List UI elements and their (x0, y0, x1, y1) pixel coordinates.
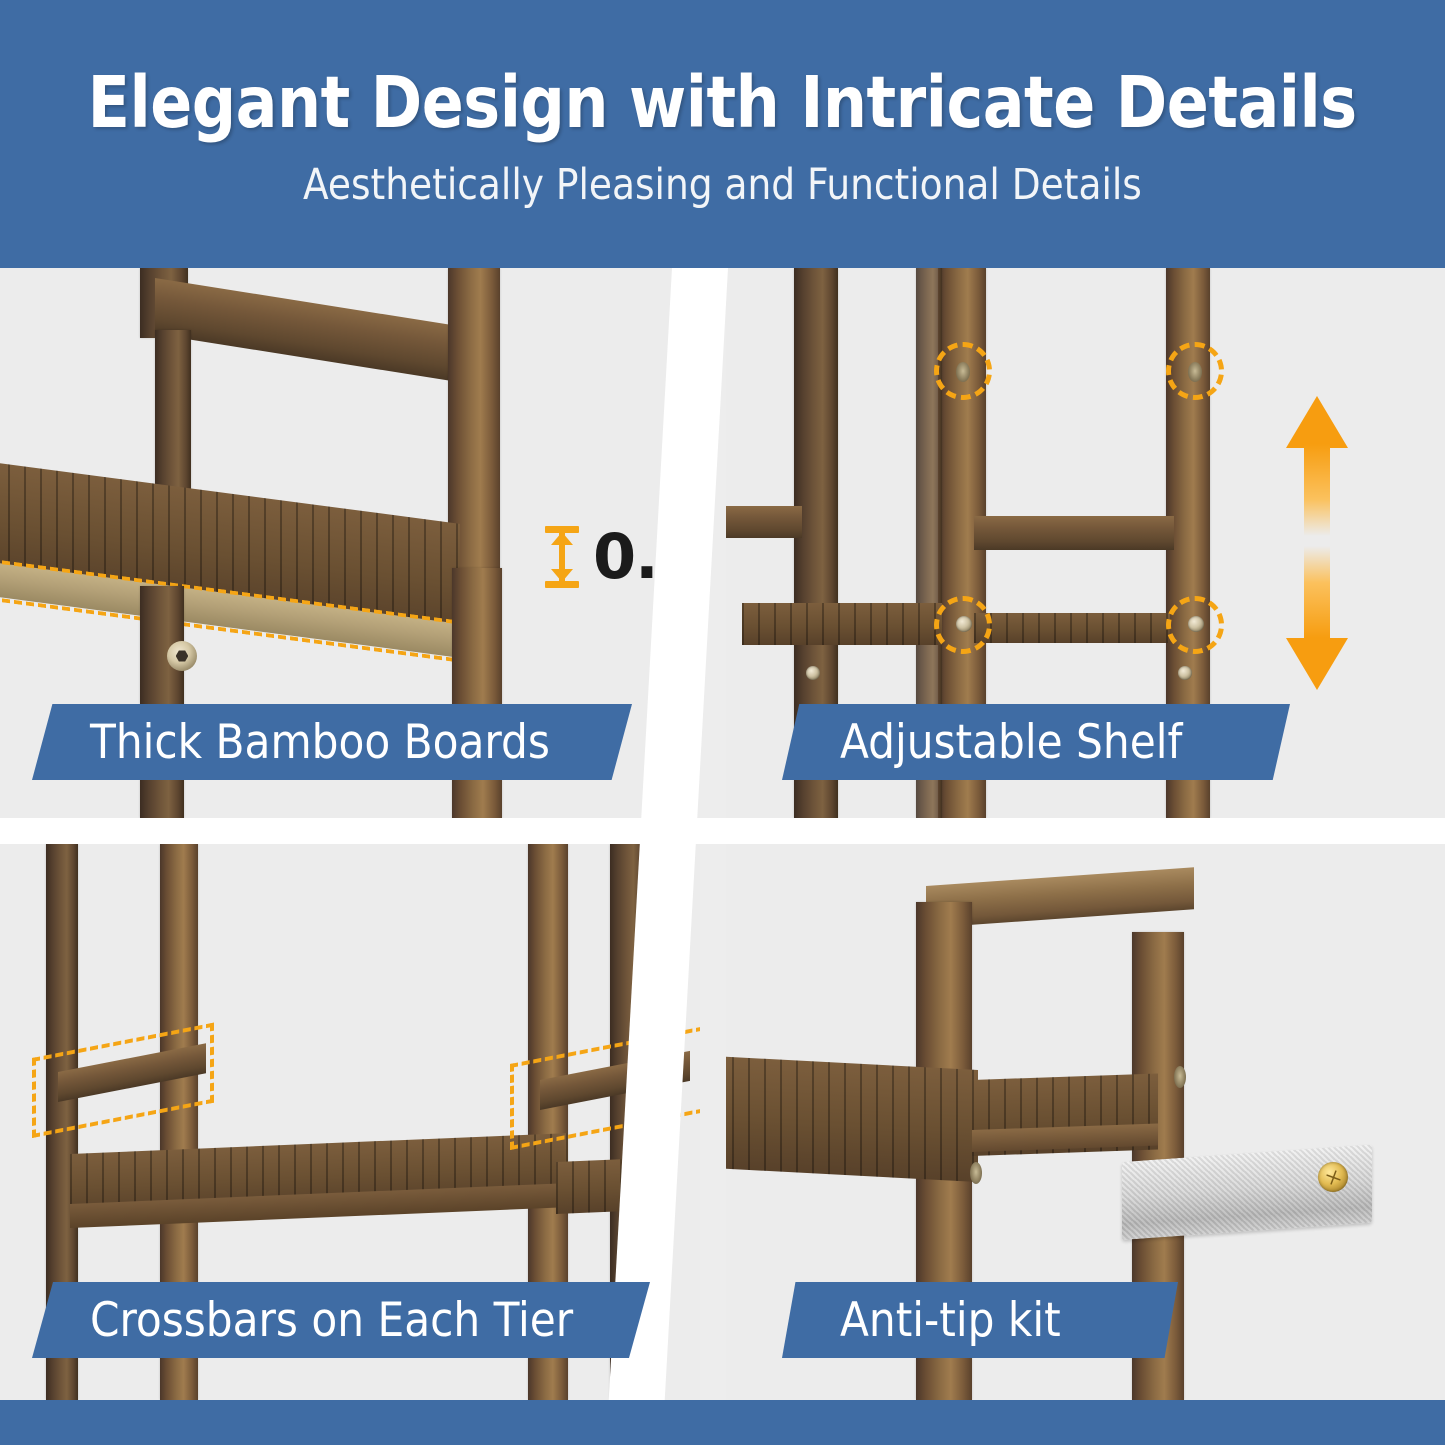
label-text: Thick Bamboo Boards (90, 719, 550, 766)
panel-crossbars-on-each-tier: Crossbars on Each Tier (0, 844, 700, 1400)
post-hole-1 (970, 1162, 982, 1184)
mount-screw-4 (1188, 616, 1204, 632)
lower-left-post (140, 586, 184, 818)
arrow-down-icon (1286, 546, 1348, 692)
hex-screw-icon (167, 641, 197, 671)
mount-screw-3 (956, 616, 972, 632)
header-banner: Elegant Design with Intricate Details Ae… (0, 0, 1445, 268)
shelf-right-section (974, 613, 1170, 643)
panel-adjustable-shelf: Adjustable Shelf (726, 268, 1445, 818)
label-text: Crossbars on Each Tier (90, 1297, 573, 1344)
label-anti-tip-kit: Anti-tip kit (782, 1282, 1178, 1358)
panel-anti-tip-kit: Anti-tip kit (726, 844, 1445, 1400)
mount-hole-1 (956, 362, 970, 382)
upper-cross-beam (155, 278, 485, 386)
post-screw-3 (1178, 666, 1192, 680)
left-stub-beam (726, 506, 802, 538)
page-subtitle: Aesthetically Pleasing and Functional De… (303, 164, 1142, 207)
label-text: Adjustable Shelf (840, 719, 1182, 766)
page-title: Elegant Design with Intricate Details (88, 67, 1357, 138)
arrow-up-icon (1286, 396, 1348, 538)
metal-strap-icon (1122, 1145, 1372, 1240)
rear-left-post (155, 330, 191, 510)
post-screw-1 (806, 666, 820, 680)
post-hole-2 (1174, 1066, 1186, 1088)
label-crossbars-on-each-tier: Crossbars on Each Tier (32, 1282, 650, 1358)
shelf-left-section (742, 603, 942, 645)
infographic-page: Elegant Design with Intricate Details Ae… (0, 0, 1445, 1445)
footer-bar (0, 1400, 1445, 1445)
divider-horizontal (0, 818, 1445, 844)
rear-crossbar (974, 516, 1174, 550)
lower-right-post (452, 568, 502, 818)
height-measure-icon (545, 526, 579, 588)
panel-thick-bamboo-boards: 0.7” Thick Bamboo Boards (0, 268, 700, 818)
mount-hole-2 (1188, 362, 1202, 382)
label-adjustable-shelf: Adjustable Shelf (782, 704, 1290, 780)
label-thick-bamboo-boards: Thick Bamboo Boards (32, 704, 632, 780)
shelf-surface-left (726, 1056, 978, 1182)
gold-screw-icon (1318, 1162, 1348, 1192)
label-text: Anti-tip kit (840, 1297, 1061, 1344)
